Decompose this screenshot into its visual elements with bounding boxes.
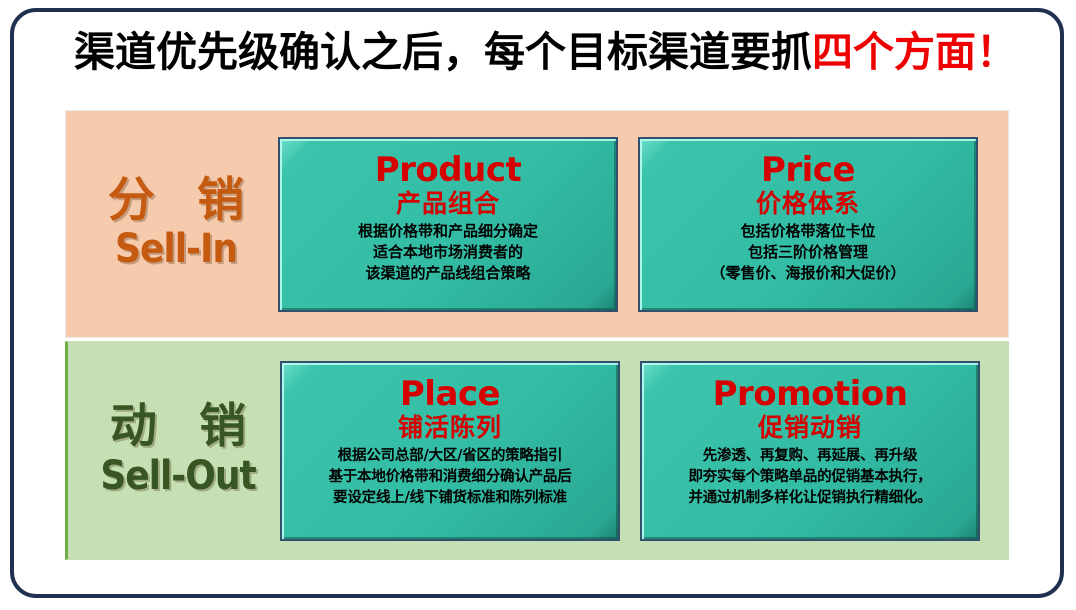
card-place-desc-line-2: 基于本地价格带和消费细分确认产品后 xyxy=(288,466,612,487)
card-place[interactable]: Place 铺活陈列 根据公司总部/大区/省区的策略指引 基于本地价格带和消费细… xyxy=(280,361,620,541)
card-place-title-cn: 铺活陈列 xyxy=(288,413,612,443)
slide-canvas: 渠道优先级确认之后，每个目标渠道要抓四个方面！ 分 销 Sell-In Prod… xyxy=(0,0,1076,610)
card-product-title-en: Product xyxy=(286,150,610,190)
card-row-sell-out: Place 铺活陈列 根据公司总部/大区/省区的策略指引 基于本地价格带和消费细… xyxy=(280,361,1011,541)
card-promotion-desc-line-3: 并通过机制多样化让促销执行精细化。 xyxy=(648,487,972,508)
card-place-title-en: Place xyxy=(288,374,612,414)
card-price-description: 包括价格带落位卡位 包括三阶价格管理 （零售价、海报价和大促价） xyxy=(646,221,970,284)
card-promotion[interactable]: Promotion 促销动销 先渗透、再复购、再延展、再升级 即夯实每个策略单品… xyxy=(640,361,980,541)
card-row-sell-in: Product 产品组合 根据价格带和产品细分确定 适合本地市场消费者的 该渠道… xyxy=(278,137,1009,312)
card-price-desc-line-2: 包括三阶价格管理 xyxy=(646,242,970,263)
card-price-desc-line-1: 包括价格带落位卡位 xyxy=(646,221,970,242)
card-promotion-title-cn: 促销动销 xyxy=(648,413,972,443)
card-promotion-description: 先渗透、再复购、再延展、再升级 即夯实每个策略单品的促销基本执行， 并通过机制多… xyxy=(648,445,972,508)
card-promotion-desc-line-1: 先渗透、再复购、再延展、再升级 xyxy=(648,445,972,466)
card-price-title-cn: 价格体系 xyxy=(646,189,970,219)
stage-label-sell-out-en: Sell-Out xyxy=(76,453,280,499)
card-place-desc-line-1: 根据公司总部/大区/省区的策略指引 xyxy=(288,445,612,466)
card-product[interactable]: Product 产品组合 根据价格带和产品细分确定 适合本地市场消费者的 该渠道… xyxy=(278,137,618,312)
card-promotion-title-en: Promotion xyxy=(648,374,972,414)
card-product-title-cn: 产品组合 xyxy=(286,189,610,219)
card-promotion-desc-line-2: 即夯实每个策略单品的促销基本执行， xyxy=(648,466,972,487)
card-product-description: 根据价格带和产品细分确定 适合本地市场消费者的 该渠道的产品线组合策略 xyxy=(286,221,610,284)
card-price-title-en: Price xyxy=(646,150,970,190)
card-place-description: 根据公司总部/大区/省区的策略指引 基于本地价格带和消费细分确认产品后 要设定线… xyxy=(288,445,612,508)
band-sell-out: 动 销 Sell-Out Place 铺活陈列 根据公司总部/大区/省区的策略指… xyxy=(65,341,1009,560)
card-product-desc-line-1: 根据价格带和产品细分确定 xyxy=(286,221,610,242)
card-product-desc-line-2: 适合本地市场消费者的 xyxy=(286,242,610,263)
stage-label-sell-in-en: Sell-In xyxy=(74,226,278,272)
card-place-desc-line-3: 要设定线上/线下铺货标准和陈列标准 xyxy=(288,487,612,508)
band-sell-in: 分 销 Sell-In Product 产品组合 根据价格带和产品细分确定 适合… xyxy=(65,110,1009,338)
stage-label-sell-out: 动 销 Sell-Out xyxy=(68,402,280,499)
card-price-desc-line-3: （零售价、海报价和大促价） xyxy=(646,263,970,284)
page-title-accent: 四个方面！ xyxy=(812,28,1017,76)
page-title-main: 渠道优先级确认之后，每个目标渠道要抓 xyxy=(74,28,812,76)
stage-label-sell-out-cn: 动 销 xyxy=(76,402,280,453)
card-product-desc-line-3: 该渠道的产品线组合策略 xyxy=(286,263,610,284)
page-title: 渠道优先级确认之后，每个目标渠道要抓四个方面！ xyxy=(74,24,1014,82)
stage-label-sell-in-cn: 分 销 xyxy=(74,176,278,227)
stage-label-sell-in: 分 销 Sell-In xyxy=(66,176,278,273)
card-price[interactable]: Price 价格体系 包括价格带落位卡位 包括三阶价格管理 （零售价、海报价和大… xyxy=(638,137,978,312)
